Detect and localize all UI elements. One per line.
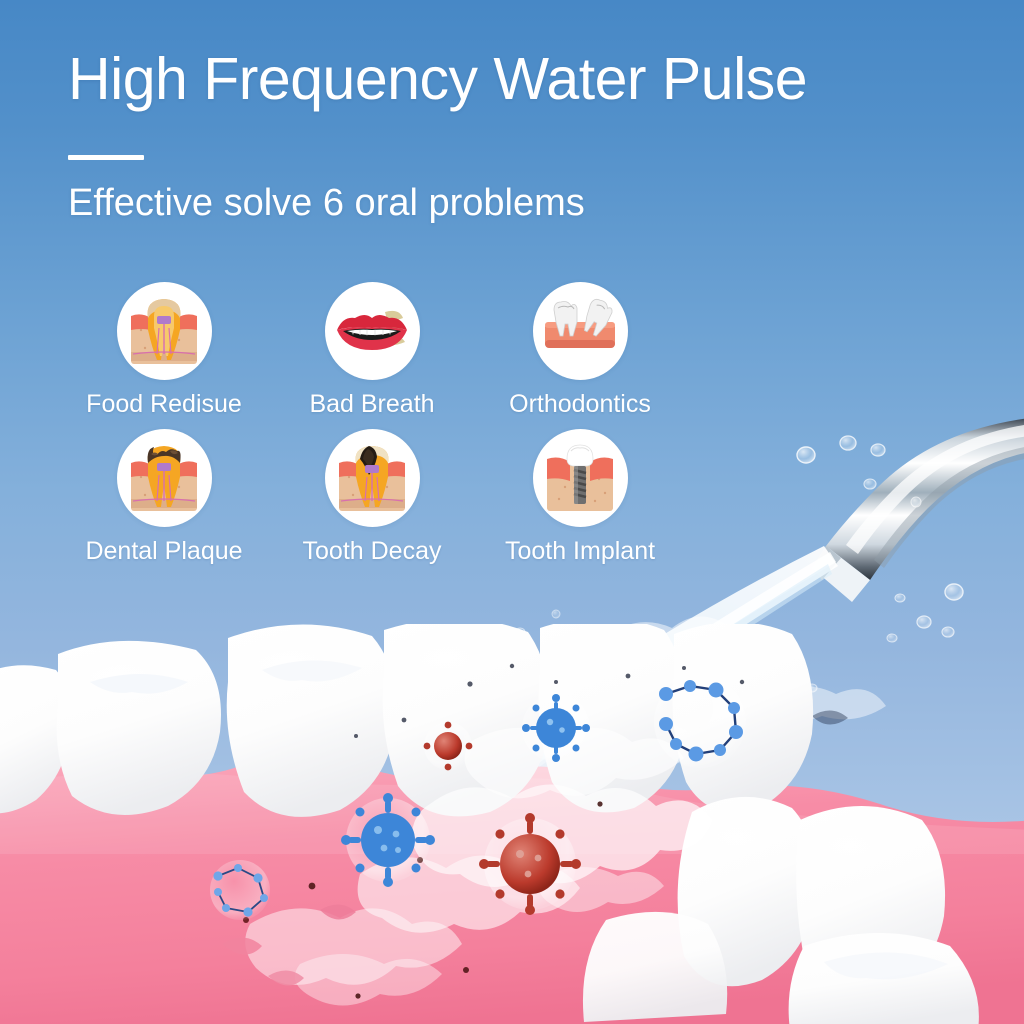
poster-root: High Frequency Water Pulse Effective sol… — [0, 0, 1024, 1024]
feature-food-residue[interactable]: Food Redisue — [60, 282, 268, 419]
impacted-molars-gum-icon — [533, 282, 628, 380]
feature-label: Tooth Decay — [303, 537, 442, 566]
feature-label: Tooth Implant — [505, 537, 655, 566]
feature-row-1: Food Redisue Bad Breath — [60, 282, 700, 419]
lips-bad-breath-icon — [325, 282, 420, 380]
feature-orthodontics[interactable]: Orthodontics — [476, 282, 684, 419]
feature-row-2: Dental Plaque — [60, 429, 700, 566]
feature-bad-breath[interactable]: Bad Breath — [268, 282, 476, 419]
feature-tooth-decay[interactable]: Tooth Decay — [268, 429, 476, 566]
oral-problems-grid: Food Redisue Bad Breath — [60, 282, 700, 576]
feature-tooth-implant[interactable]: Tooth Implant — [476, 429, 684, 566]
page-subtitle: Effective solve 6 oral problems — [68, 182, 585, 225]
tooth-cavity-icon — [325, 429, 420, 527]
feature-label: Orthodontics — [509, 390, 651, 419]
feature-label: Dental Plaque — [85, 537, 242, 566]
feature-dental-plaque[interactable]: Dental Plaque — [60, 429, 268, 566]
feature-label: Bad Breath — [309, 390, 434, 419]
feature-label: Food Redisue — [86, 390, 242, 419]
title-divider — [68, 155, 144, 160]
dental-implant-screw-icon — [533, 429, 628, 527]
tooth-cross-section-icon — [117, 282, 212, 380]
page-title: High Frequency Water Pulse — [68, 45, 807, 113]
tooth-plaque-icon — [117, 429, 212, 527]
